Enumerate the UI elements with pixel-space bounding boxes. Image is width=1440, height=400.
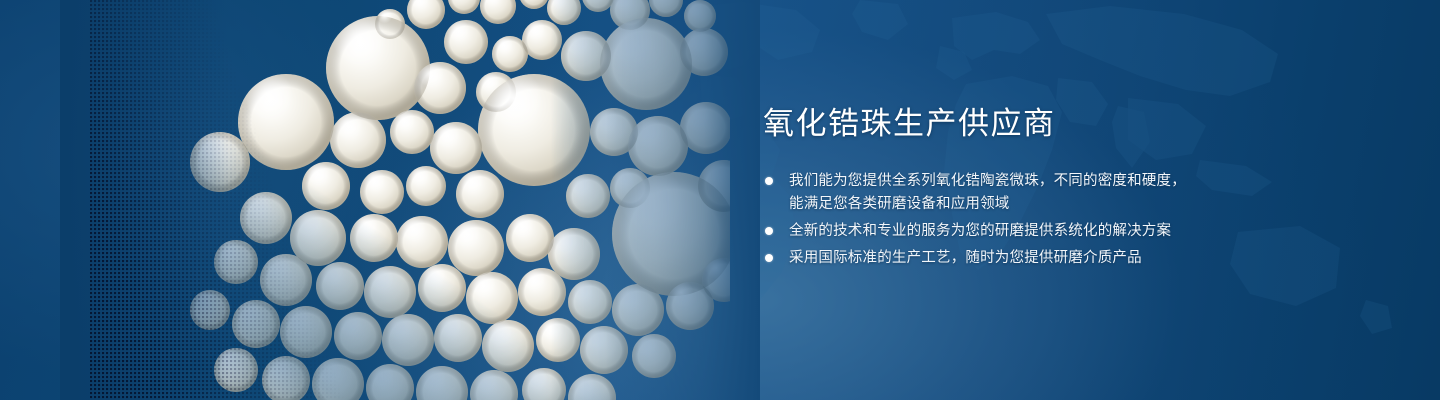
bullet-line: 全新的技术和专业的服务为您的研磨提供系统化的解决方案 [789,220,1171,243]
feature-bullet-item: 采用国际标准的生产工艺，随时为您提供研磨介质产品 [765,247,1235,270]
banner-headline: 氧化锆珠生产供应商 [763,108,1056,139]
bullet-line: 我们能为您提供全系列氧化锆陶瓷微珠，不同的密度和硬度， [789,170,1186,193]
feature-bullet-text: 采用国际标准的生产工艺，随时为您提供研磨介质产品 [789,247,1142,270]
feature-bullet-text: 我们能为您提供全系列氧化锆陶瓷微珠，不同的密度和硬度， 能满足您各类研磨设备和应… [789,170,1186,216]
bullet-line: 能满足您各类研磨设备和应用领域 [789,193,1186,216]
feature-bullet-item: 全新的技术和专业的服务为您的研磨提供系统化的解决方案 [765,220,1235,243]
bullet-dot-icon [765,227,773,235]
zirconia-beads-photo [90,0,730,400]
halftone-dot-fade [90,0,450,400]
bullet-dot-icon [765,254,773,262]
photo-blend-veil [60,0,760,400]
feature-bullet-item: 我们能为您提供全系列氧化锆陶瓷微珠，不同的密度和硬度， 能满足您各类研磨设备和应… [765,170,1235,216]
bullet-line: 采用国际标准的生产工艺，随时为您提供研磨介质产品 [789,247,1142,270]
hero-banner: 氧化锆珠生产供应商 我们能为您提供全系列氧化锆陶瓷微珠，不同的密度和硬度， 能满… [0,0,1440,400]
feature-bullet-list: 我们能为您提供全系列氧化锆陶瓷微珠，不同的密度和硬度， 能满足您各类研磨设备和应… [765,170,1235,274]
feature-bullet-text: 全新的技术和专业的服务为您的研磨提供系统化的解决方案 [789,220,1171,243]
banner-content: 氧化锆珠生产供应商 我们能为您提供全系列氧化锆陶瓷微珠，不同的密度和硬度， 能满… [763,0,1363,400]
bullet-dot-icon [765,177,773,185]
